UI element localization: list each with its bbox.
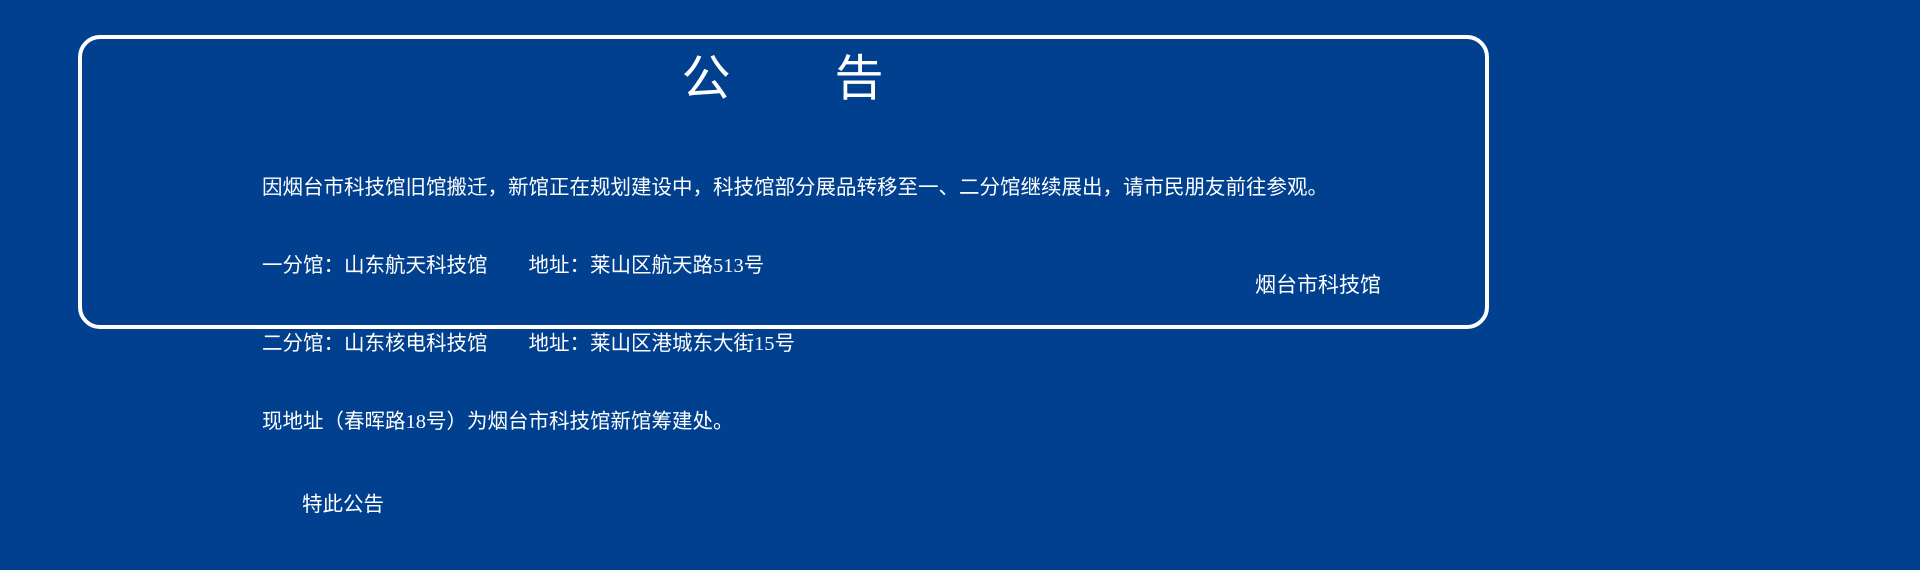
notice-title: 公 告 — [82, 51, 1485, 107]
notice-paragraph-4: 现地址（春晖路18号）为烟台市科技馆新馆筹建处。 — [262, 409, 1442, 435]
notice-board: 公 告 因烟台市科技馆旧馆搬迁，新馆正在规划建设中，科技馆部分展品转移至一、二分… — [0, 0, 1920, 446]
notice-signature: 烟台市科技馆 — [1255, 272, 1381, 298]
notice-body: 因烟台市科技馆旧馆搬迁，新馆正在规划建设中，科技馆部分展品转移至一、二分馆继续展… — [262, 123, 1442, 570]
notice-frame: 公 告 因烟台市科技馆旧馆搬迁，新馆正在规划建设中，科技馆部分展品转移至一、二分… — [78, 35, 1489, 329]
notice-paragraph-1: 因烟台市科技馆旧馆搬迁，新馆正在规划建设中，科技馆部分展品转移至一、二分馆继续展… — [262, 175, 1442, 201]
notice-paragraph-3: 二分馆：山东核电科技馆 地址：莱山区港城东大街15号 — [262, 331, 1442, 357]
notice-closing: 特此公告 — [262, 492, 1442, 518]
